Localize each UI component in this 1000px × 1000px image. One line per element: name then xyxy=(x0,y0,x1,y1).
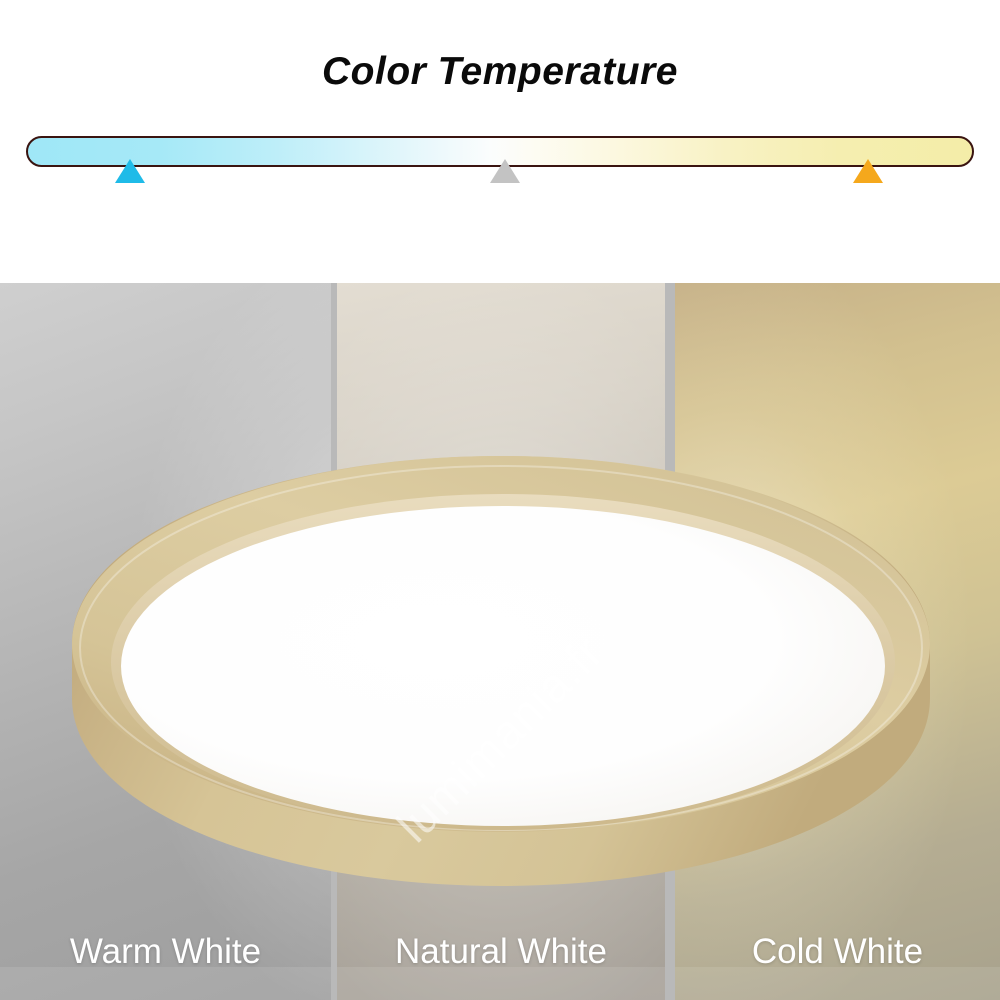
marker-cool-6000k[interactable] xyxy=(115,159,145,183)
marker-warm-3000k[interactable] xyxy=(853,159,883,183)
scene-panel-warm-white: Warm White xyxy=(0,283,331,1000)
color-temperature-scale: 6000K 4500K 3000K xyxy=(26,136,974,167)
panel-caption-natural-white: Natural White xyxy=(337,932,665,972)
product-photo-section: Warm White Natural White Cold White xyxy=(0,283,1000,1000)
marker-neutral-4500k[interactable] xyxy=(490,159,520,183)
header-section: Color Temperature 6000K 4500K 3000K xyxy=(0,0,1000,283)
scene-background-warm-white xyxy=(0,283,331,1000)
panel-caption-cold-white: Cold White xyxy=(675,932,1000,972)
scene-panel-cold-white: Cold White xyxy=(675,283,1000,1000)
color-temperature-infographic: Color Temperature 6000K 4500K 3000K Warm… xyxy=(0,0,1000,1000)
panel-caption-warm-white: Warm White xyxy=(0,932,331,972)
scene-background-cold-white xyxy=(675,283,1000,1000)
page-title: Color Temperature xyxy=(0,50,1000,94)
